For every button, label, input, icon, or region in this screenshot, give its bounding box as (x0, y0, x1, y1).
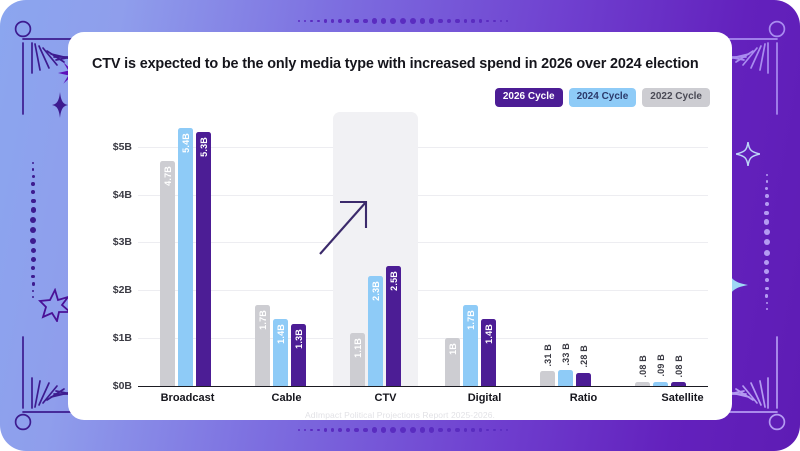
bar-value-label: 1.4B (276, 324, 286, 344)
x-axis-category-cable: Cable (237, 392, 336, 404)
axis-baseline (138, 386, 708, 387)
bar-digital-2026[interactable]: 1.4B (481, 319, 496, 386)
dot-row-top (296, 18, 510, 24)
bar-value-label: .28 B (579, 345, 589, 368)
bar-digital-2022[interactable]: 1B (445, 338, 460, 386)
bar-ctv-2022[interactable]: 1.1B (350, 333, 365, 386)
bar-cable-2024[interactable]: 1.4B (273, 319, 288, 386)
bar-wrap: 1.7B (463, 118, 478, 386)
bar-group-cable: 1.7B1.4B1.3B (233, 118, 328, 386)
x-axis-category-ratio: Ratio (534, 392, 633, 404)
bar-digital-2024[interactable]: 1.7B (463, 305, 478, 386)
y-axis-tick-label: $2B (113, 284, 132, 296)
bar-value-label: 1.3B (294, 329, 304, 349)
legend-item-2022-cycle[interactable]: 2022 Cycle (642, 88, 710, 107)
bar-value-label: 1.7B (466, 310, 476, 330)
bar-wrap: 1.4B (481, 118, 496, 386)
dot-row-bottom (296, 427, 510, 433)
plot-area: $0B$1B$2B$3B$4B$5B 4.7B5.4B5.3B1.7B1.4B1… (92, 118, 708, 386)
y-axis: $0B$1B$2B$3B$4B$5B (92, 118, 138, 386)
bar-value-label: .08 B (674, 355, 684, 378)
bar-group-satellite: .08 B.09 B.08 B (613, 118, 708, 386)
chart-legend: 2026 Cycle2024 Cycle2022 Cycle (495, 88, 710, 107)
x-axis-labels: BroadcastCableCTVDigitalRatioSatellite (138, 392, 732, 404)
chart-card: CTV is expected to be the only media typ… (68, 32, 732, 420)
bar-wrap: .08 B (671, 118, 686, 386)
bar-wrap: 1.4B (273, 118, 288, 386)
dot-column-left (30, 160, 36, 300)
bar-value-label: .08 B (638, 355, 648, 378)
sparkle-right-icon (736, 142, 760, 166)
bar-cable-2026[interactable]: 1.3B (291, 324, 306, 386)
bar-value-label: 1.1B (353, 338, 363, 358)
star-outline-left-icon (38, 288, 72, 322)
bar-wrap: 5.3B (196, 118, 211, 386)
chart-title: CTV is expected to be the only media typ… (92, 56, 704, 72)
bar-value-label: .09 B (656, 354, 666, 377)
bar-value-label: 5.3B (199, 137, 209, 157)
bar-wrap: 1.7B (255, 118, 270, 386)
bar-cable-2022[interactable]: 1.7B (255, 305, 270, 386)
bar-value-label: 4.7B (163, 166, 173, 186)
bar-group-digital: 1B1.7B1.4B (423, 118, 518, 386)
bar-group-ratio: .31 B.33 B.28 B (518, 118, 613, 386)
y-axis-tick-label: $4B (113, 189, 132, 201)
legend-item-2026-cycle[interactable]: 2026 Cycle (495, 88, 563, 107)
bar-wrap: 1B (445, 118, 460, 386)
bar-wrap: 5.4B (178, 118, 193, 386)
bar-ctv-2026[interactable]: 2.5B (386, 266, 401, 386)
y-axis-tick-label: $1B (113, 332, 132, 344)
bar-value-label: .33 B (561, 343, 571, 366)
bar-wrap: 2.5B (386, 118, 401, 386)
bar-satellite-2022[interactable]: .08 B (635, 382, 650, 386)
bar-wrap: 4.7B (160, 118, 175, 386)
poster-frame: CTV is expected to be the only media typ… (0, 0, 800, 451)
y-axis-tick-label: $3B (113, 236, 132, 248)
bar-value-label: 1B (448, 343, 458, 355)
x-axis-category-satellite: Satellite (633, 392, 732, 404)
growth-arrow-icon (316, 180, 374, 258)
y-axis-tick-label: $0B (113, 380, 132, 392)
bar-wrap: 1.1B (350, 118, 365, 386)
bar-ratio-2024[interactable]: .33 B (558, 370, 573, 386)
bar-ratio-2026[interactable]: .28 B (576, 373, 591, 386)
bar-value-label: 2.5B (389, 271, 399, 291)
bar-wrap: .33 B (558, 118, 573, 386)
bar-satellite-2026[interactable]: .08 B (671, 382, 686, 386)
bar-value-label: 1.7B (258, 310, 268, 330)
legend-item-2024-cycle[interactable]: 2024 Cycle (569, 88, 637, 107)
bar-wrap: .28 B (576, 118, 591, 386)
bar-broadcast-2022[interactable]: 4.7B (160, 161, 175, 386)
bar-group-broadcast: 4.7B5.4B5.3B (138, 118, 233, 386)
bar-value-label: .31 B (543, 344, 553, 367)
bar-ctv-2024[interactable]: 2.3B (368, 276, 383, 386)
bar-wrap: .08 B (635, 118, 650, 386)
x-axis-category-digital: Digital (435, 392, 534, 404)
bar-satellite-2024[interactable]: .09 B (653, 382, 668, 386)
bar-groups: 4.7B5.4B5.3B1.7B1.4B1.3B1.1B2.3B2.5B1B1.… (138, 118, 708, 386)
x-axis-category-ctv: CTV (336, 392, 435, 404)
bar-group-ctv: 1.1B2.3B2.5B (328, 118, 423, 386)
x-axis-category-broadcast: Broadcast (138, 392, 237, 404)
bar-wrap: .09 B (653, 118, 668, 386)
bar-wrap: 2.3B (368, 118, 383, 386)
bar-wrap: .31 B (540, 118, 555, 386)
y-axis-tick-label: $5B (113, 141, 132, 153)
bar-ratio-2022[interactable]: .31 B (540, 371, 555, 386)
bar-broadcast-2026[interactable]: 5.3B (196, 132, 211, 386)
bar-broadcast-2024[interactable]: 5.4B (178, 128, 193, 386)
bar-value-label: 5.4B (181, 133, 191, 153)
sparkle-left-icon (52, 92, 68, 118)
dot-column-right (764, 172, 770, 312)
bar-value-label: 2.3B (371, 281, 381, 301)
bar-wrap: 1.3B (291, 118, 306, 386)
chart-footnote: AdImpact Political Projections Report 20… (68, 410, 732, 420)
bar-value-label: 1.4B (484, 324, 494, 344)
